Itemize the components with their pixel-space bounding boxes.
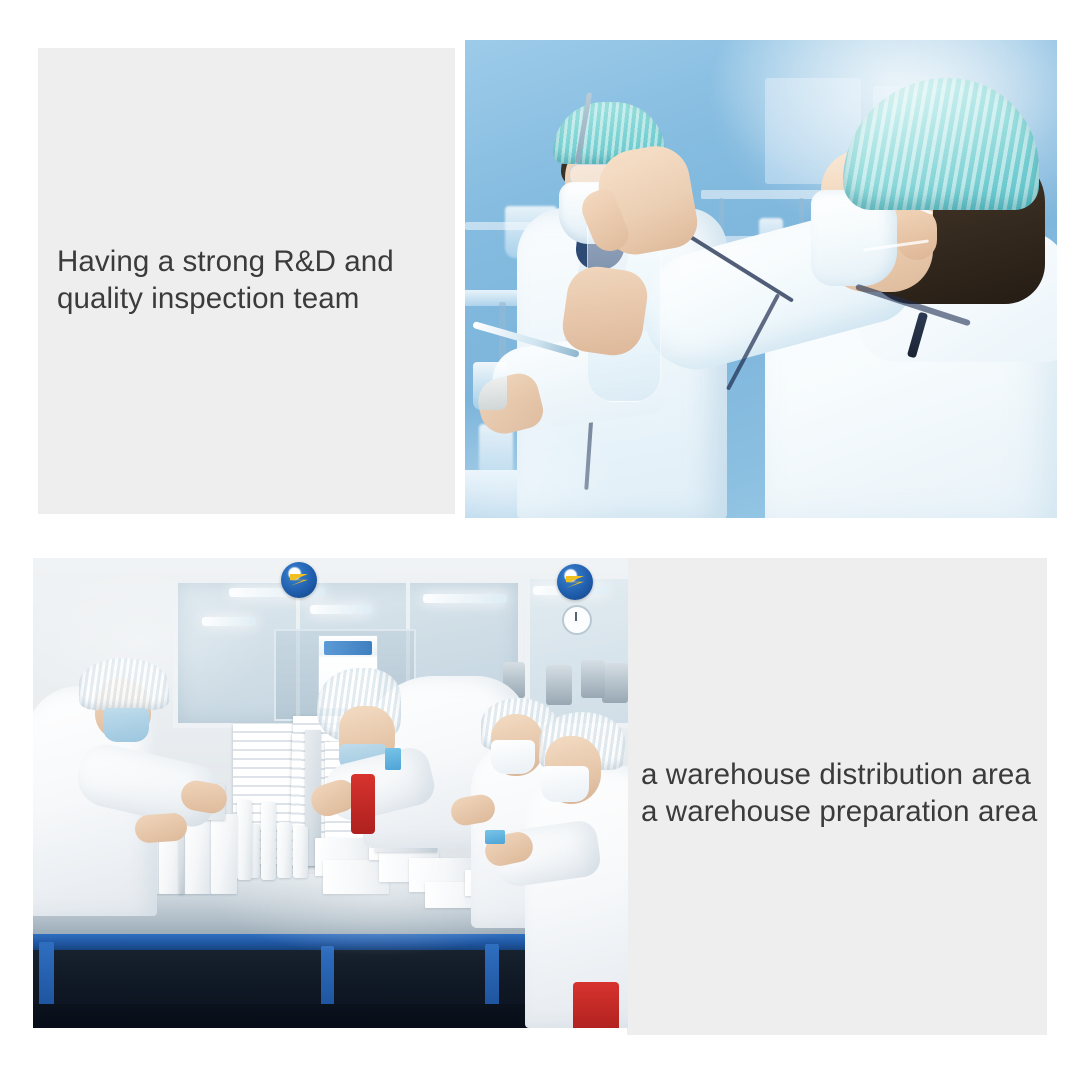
warehouse-packing-cleanroom-photo	[33, 558, 628, 1028]
steel-canister-2	[602, 663, 628, 703]
worker-left-hairnet	[79, 658, 169, 710]
worker-right-rear-face-mask	[491, 740, 535, 774]
panel-rnd-quality: Having a strong R&D and quality inspecti…	[0, 0, 1080, 540]
worker-right-front-face-mask	[541, 766, 589, 802]
worker-right-front-blue-item-icon	[485, 830, 505, 844]
ceiling-light-inner-2	[310, 605, 372, 614]
worker-right-front-red-garment	[573, 982, 619, 1028]
packing-scene-backdrop	[33, 558, 628, 1028]
cleanroom-blue-sign-icon	[281, 562, 317, 598]
worker-center-red-garment	[351, 774, 375, 834]
warehouse-caption-text: a warehouse distribution area a warehous…	[641, 756, 1046, 830]
product-tube-tall-2	[261, 802, 276, 880]
ceiling-light-inner	[202, 617, 256, 626]
carton-upright-5	[211, 814, 237, 894]
steel-canister	[546, 665, 572, 705]
poster-page: Having a strong R&D and quality inspecti…	[0, 0, 1080, 1080]
technician-back-vial	[473, 362, 507, 410]
wall-clock	[562, 605, 592, 635]
worker-left-face-mask	[103, 708, 149, 742]
steel-drum-shelf-2	[581, 660, 605, 698]
lab-scene-backdrop	[465, 40, 1057, 518]
product-tube-tall	[237, 800, 252, 880]
ceiling-light-main-2	[423, 594, 507, 603]
product-tube-4	[277, 822, 292, 878]
worker-left-hand-2	[134, 812, 188, 844]
technician-front-ear	[897, 208, 937, 260]
worker-center-badge-icon	[385, 748, 401, 770]
product-tube-5	[293, 826, 308, 878]
rnd-caption-text: Having a strong R&D and quality inspecti…	[57, 243, 447, 317]
lab-rnd-quality-inspection-photo	[465, 40, 1057, 518]
panel-warehouse: a warehouse distribution area a warehous…	[0, 540, 1080, 1080]
cleanroom-blue-sign-icon-2	[557, 564, 593, 600]
